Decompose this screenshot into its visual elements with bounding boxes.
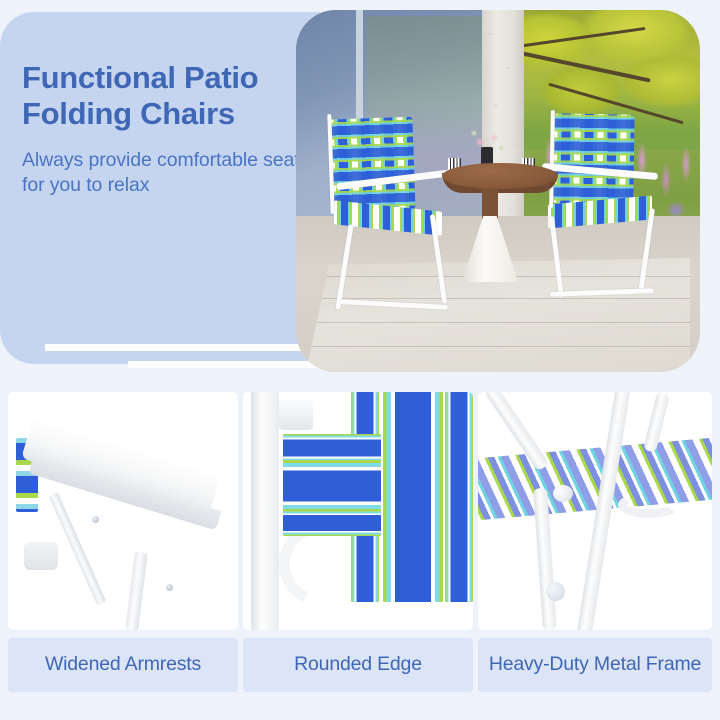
headline-panel: Functional Patio Folding Chairs Always p… <box>0 12 320 364</box>
feature-caption-text: Heavy-Duty Metal Frame <box>489 654 701 676</box>
headline-text-block: Functional Patio Folding Chairs Always p… <box>22 60 312 199</box>
hero-product-photo <box>296 10 700 372</box>
webbing-strap-horizontal-2 <box>283 460 381 512</box>
feature-caption-text: Rounded Edge <box>294 654 422 676</box>
frame-bracket <box>618 492 680 518</box>
page-title: Functional Patio Folding Chairs <box>22 60 312 132</box>
webbing-strap-horizontal-1 <box>283 434 381 462</box>
feature-caption-widened-armrests: Widened Armrests <box>8 638 238 692</box>
webbing-strap-vertical-2 <box>383 392 443 602</box>
page-subtitle: Always provide comfortable seat for you … <box>22 148 312 199</box>
feature-image-heavy-duty-frame <box>478 392 712 630</box>
frame-post <box>251 392 279 630</box>
armrest-body <box>24 406 230 606</box>
webbing-strap-vertical-3 <box>445 392 473 602</box>
frame-rivet-upper <box>553 485 573 502</box>
feature-image-rounded-edge <box>243 392 473 630</box>
feature-caption-text: Widened Armrests <box>45 654 201 676</box>
feature-caption-heavy-duty-frame: Heavy-Duty Metal Frame <box>478 638 712 692</box>
armrest-screw-2 <box>166 584 173 591</box>
feature-caption-rounded-edge: Rounded Edge <box>243 638 473 692</box>
chair-left-backrest <box>330 117 415 212</box>
table-top <box>442 163 558 189</box>
chair-right-backrest <box>553 113 635 204</box>
hero-section: Functional Patio Folding Chairs Always p… <box>0 0 720 382</box>
webbing-strap-horizontal-3 <box>283 510 381 536</box>
armrest-screw-1 <box>92 516 99 523</box>
feature-image-widened-armrests <box>8 392 238 630</box>
frame-rivet-lower <box>546 582 565 601</box>
webbing-clip <box>279 400 313 430</box>
